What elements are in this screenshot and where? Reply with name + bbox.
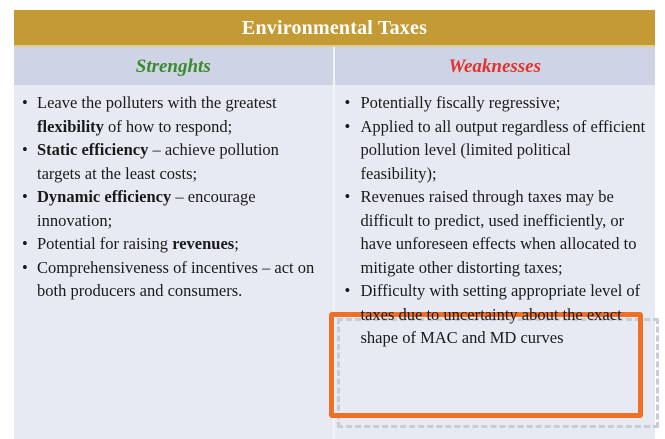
body-text: Comprehensiveness of incentives – act on… xyxy=(37,258,314,301)
strengths-cell: Leave the polluters with the greatest fl… xyxy=(14,85,335,439)
body-text: Applied to all output regardless of effi… xyxy=(361,117,646,183)
page-title: Environmental Taxes xyxy=(242,18,427,38)
body-text: Potential for raising xyxy=(37,234,172,253)
list-item: Difficulty with setting appropriate leve… xyxy=(339,279,648,350)
list-item: Dynamic efficiency – encourage innovatio… xyxy=(18,185,325,232)
emphasis-text: revenues xyxy=(172,234,234,253)
list-item: Potential for raising revenues; xyxy=(18,232,325,256)
body-text: of how to respond; xyxy=(104,117,232,136)
table-title-bar: Environmental Taxes xyxy=(14,10,655,47)
body-text: Difficulty with setting appropriate leve… xyxy=(361,281,641,347)
list-item: Revenues raised through taxes may be dif… xyxy=(339,185,648,279)
emphasis-text: flexibility xyxy=(37,117,104,136)
emphasis-text: Dynamic efficiency xyxy=(37,187,171,206)
weaknesses-heading: Weaknesses xyxy=(448,57,541,76)
list-item: Applied to all output regardless of effi… xyxy=(339,115,648,186)
slide-canvas: Environmental Taxes Strenghts Weaknesses… xyxy=(0,0,665,439)
strengths-list: Leave the polluters with the greatest fl… xyxy=(18,91,325,303)
header-cell-weaknesses: Weaknesses xyxy=(335,47,656,85)
emphasis-text: Static efficiency xyxy=(37,140,148,159)
list-item: Static efficiency – achieve pollution ta… xyxy=(18,138,325,185)
body-text: Potentially fiscally regressive; xyxy=(361,93,561,112)
list-item: Potentially fiscally regressive; xyxy=(339,91,648,115)
strengths-heading: Strenghts xyxy=(136,57,211,76)
body-text: Revenues raised through taxes may be dif… xyxy=(361,187,637,277)
weaknesses-list: Potentially fiscally regressive;Applied … xyxy=(339,91,648,350)
body-text: ; xyxy=(234,234,239,253)
header-cell-strengths: Strenghts xyxy=(14,47,335,85)
list-item: Comprehensiveness of incentives – act on… xyxy=(18,256,325,303)
body-text: Leave the polluters with the greatest xyxy=(37,93,277,112)
list-item: Leave the polluters with the greatest fl… xyxy=(18,91,325,138)
table-header-row: Strenghts Weaknesses xyxy=(14,47,655,85)
